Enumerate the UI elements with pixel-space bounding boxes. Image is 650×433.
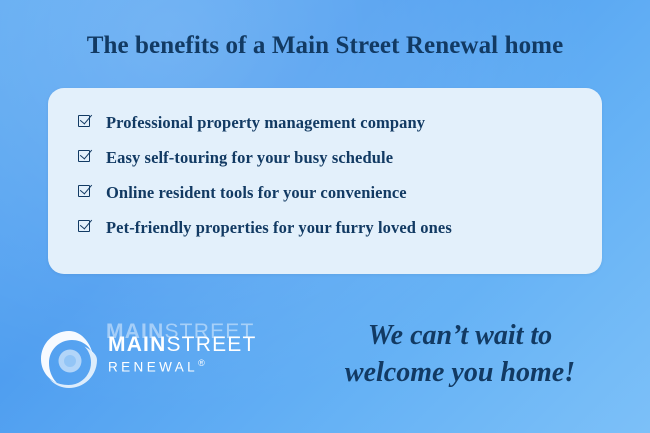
tagline-line-1: We can’t wait to [290,318,630,355]
list-item: Online resident tools for your convenien… [78,184,576,202]
list-item-label: Online resident tools for your convenien… [106,184,407,202]
logo-ghost-bold: MAIN [106,320,164,343]
brand-logo: MAINSTREET MAINSTREET RENEWAL® [36,322,276,408]
registered-trademark-icon: ® [198,358,205,368]
logo-wordmark: MAINSTREET MAINSTREET RENEWAL® [108,334,278,375]
list-item: Professional property management company [78,114,576,132]
logo-wordmark-ghost: MAINSTREET [106,320,255,344]
logo-sub-text: RENEWAL® [108,358,278,375]
logo-ghost-light: STREET [164,320,254,343]
list-item-label: Easy self-touring for your busy schedule [106,149,393,167]
benefits-card: Professional property management company… [48,88,602,274]
main-street-renewal-swirl-logo [36,328,102,394]
logo-word-renewal: RENEWAL [108,360,198,375]
promo-poster: The benefits of a Main Street Renewal ho… [0,0,650,433]
list-item: Easy self-touring for your busy schedule [78,149,576,167]
list-item: Pet-friendly properties for your furry l… [78,219,576,237]
checkbox-checked-icon [78,115,92,129]
list-item-label: Professional property management company [106,114,425,132]
tagline: We can’t wait to welcome you home! [290,318,630,392]
tagline-line-2: welcome you home! [290,355,630,392]
list-item-label: Pet-friendly properties for your furry l… [106,219,452,237]
checkbox-checked-icon [78,150,92,164]
checkbox-checked-icon [78,185,92,199]
checkbox-checked-icon [78,220,92,234]
page-title: The benefits of a Main Street Renewal ho… [0,32,650,60]
benefits-list: Professional property management company… [48,88,602,274]
